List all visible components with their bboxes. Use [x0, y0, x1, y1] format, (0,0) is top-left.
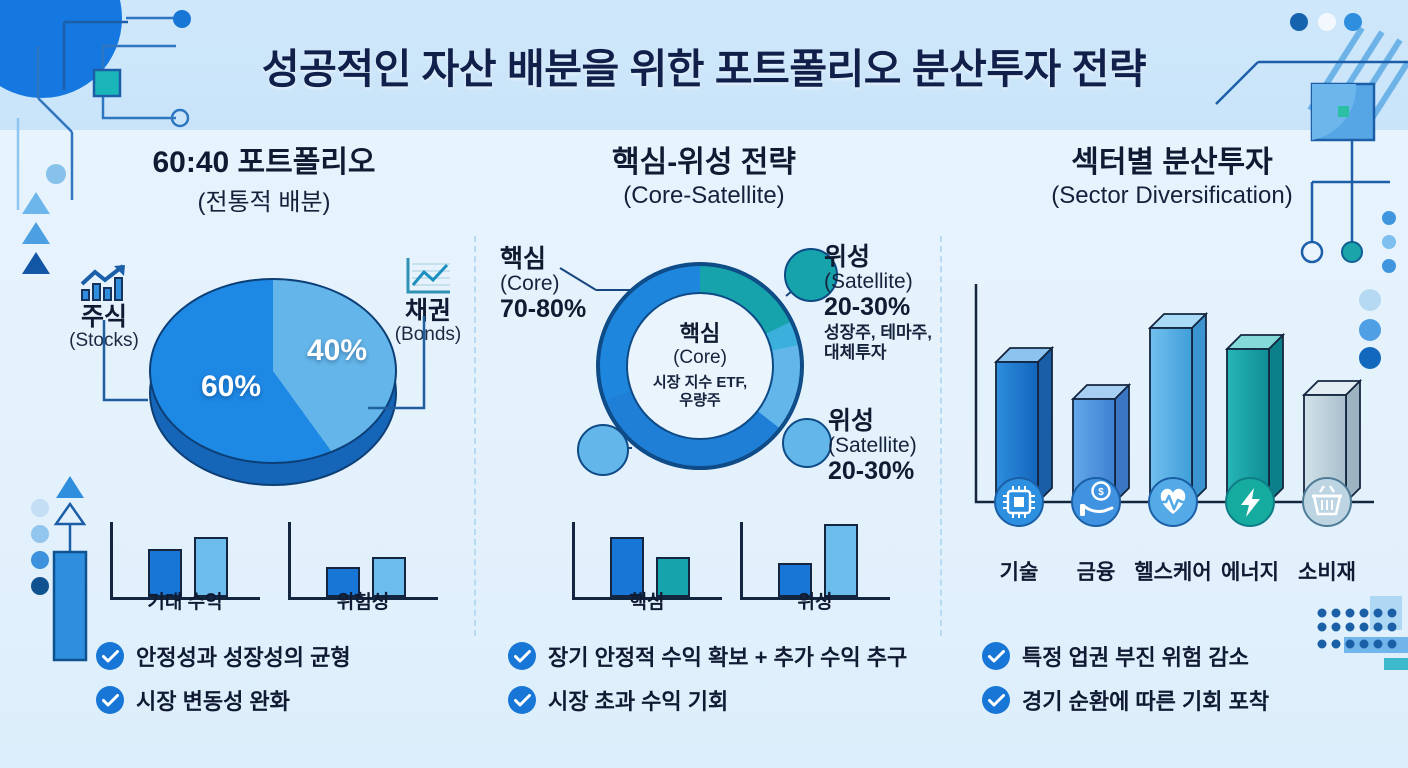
- annotation-core-pct: 70-80%: [500, 295, 610, 324]
- annotation-core: 핵심 (Core) 70-80%: [500, 246, 610, 324]
- check-circle-icon: [982, 642, 1010, 670]
- bullet-text: 안정성과 성장성의 균형: [136, 640, 351, 672]
- svg-text:$: $: [1098, 487, 1104, 498]
- legend-bonds-en: (Bonds): [372, 324, 484, 346]
- column-1-title: 60:40 포트폴리오: [44, 146, 484, 180]
- check-circle-icon: [96, 642, 124, 670]
- sector-label-consumer: 소비재: [1274, 556, 1380, 586]
- annotation-satellite-bottom-pct: 20-30%: [828, 457, 958, 486]
- legend-bonds: 채권 (Bonds): [372, 256, 484, 346]
- annotation-satellite-bottom: 위성 (Satellite) 20-30%: [828, 408, 958, 486]
- money-hand-icon: $: [1072, 478, 1120, 526]
- mini-chart-core: 핵심: [572, 505, 722, 600]
- bullet-list-column-1: 안정성과 성장성의 균형 시장 변동성 완화: [96, 640, 351, 728]
- column-3-title: 섹터별 분산투자: [952, 146, 1392, 180]
- bullet-item: 경기 순환에 따른 기회 포착: [982, 684, 1269, 716]
- check-circle-icon: [508, 642, 536, 670]
- pie-slice-label-bonds: 40%: [307, 334, 367, 368]
- donut-center-label: 핵심 (Core) 시장 지수 ETF, 우량주: [626, 292, 774, 440]
- annotation-satellite-top: 위성 (Satellite) 20-30% 성장주, 테마주, 대체투자: [824, 244, 954, 364]
- donut-center-line1: 핵심: [680, 322, 720, 346]
- mini-chart-caption: 핵심: [572, 587, 722, 614]
- bar-chart-up-icon: [42, 262, 166, 302]
- annotation-satellite-detail1: 성장주, 테마주,: [824, 323, 954, 343]
- annotation-satellite-top-en: (Satellite): [824, 270, 954, 293]
- chip-icon: [995, 478, 1043, 526]
- mini-chart-caption: 기대 수익: [110, 587, 260, 614]
- check-circle-icon: [982, 686, 1010, 714]
- donut-center-line2: (Core): [673, 347, 727, 369]
- mini-chart-expected-return: 기대 수익: [110, 505, 260, 600]
- bullet-text: 시장 초과 수익 기회: [548, 684, 728, 716]
- satellite-node-bottom: [782, 418, 832, 468]
- sector-bar-chart: $: [960, 264, 1380, 564]
- annotation-satellite-detail2: 대체투자: [824, 343, 954, 363]
- column-2-subtitle: (Core-Satellite): [484, 182, 924, 210]
- bullet-item: 장기 안정적 수익 확보 + 추가 수익 추구: [508, 640, 907, 672]
- annotation-satellite-top-pct: 20-30%: [824, 293, 954, 322]
- lightning-icon: [1226, 478, 1274, 526]
- annotation-satellite-top-ko: 위성: [824, 244, 954, 270]
- annotation-satellite-bottom-ko: 위성: [828, 408, 958, 434]
- annotation-core-en: (Core): [500, 272, 610, 295]
- mini-chart-risk: 위험성: [288, 505, 438, 600]
- heartbeat-icon: [1149, 478, 1197, 526]
- legend-stocks-label: 주식: [42, 304, 166, 330]
- bullet-text: 시장 변동성 완화: [136, 684, 290, 716]
- mini-chart-satellite: 위성: [740, 505, 890, 600]
- legend-stocks: 주식 (Stocks): [42, 262, 166, 352]
- column-core-satellite: 핵심-위성 전략 (Core-Satellite): [484, 146, 924, 210]
- column-1-subtitle: (전통적 배분): [44, 182, 484, 217]
- bullet-item: 특정 업권 부진 위험 감소: [982, 640, 1269, 672]
- mini-chart-caption: 위험성: [288, 587, 438, 614]
- donut-center-line4: 우량주: [679, 392, 720, 410]
- legend-stocks-en: (Stocks): [42, 330, 166, 352]
- check-circle-icon: [96, 686, 124, 714]
- column-sector-diversification: 섹터별 분산투자 (Sector Diversification): [952, 146, 1392, 210]
- bullet-item: 안정성과 성장성의 균형: [96, 640, 351, 672]
- column-portfolio-6040: 60:40 포트폴리오 (전통적 배분): [44, 146, 484, 217]
- bullet-item: 시장 초과 수익 기회: [508, 684, 907, 716]
- bullet-text: 특정 업권 부진 위험 감소: [1022, 640, 1249, 672]
- page-title: 성공적인 자산 배분을 위한 포트폴리오 분산투자 전략: [0, 0, 1408, 130]
- legend-bonds-label: 채권: [372, 298, 484, 324]
- sector-bar-healthcare: [1150, 314, 1206, 502]
- annotation-satellite-bottom-en: (Satellite): [828, 434, 958, 457]
- infographic-canvas: 성공적인 자산 배분을 위한 포트폴리오 분산투자 전략 60:40 포트폴리오…: [0, 0, 1408, 768]
- pie-top-face: [149, 278, 397, 464]
- bullet-text: 경기 순환에 따른 기회 포착: [1022, 684, 1269, 716]
- satellite-node-left: [577, 424, 629, 476]
- column-2-title: 핵심-위성 전략: [484, 146, 924, 180]
- mini-chart-caption: 위성: [740, 587, 890, 614]
- donut-center-line3: 시장 지수 ETF,: [653, 374, 747, 392]
- line-chart-icon: [372, 256, 484, 296]
- pie-slice-label-stocks: 60%: [201, 370, 261, 404]
- annotation-core-ko: 핵심: [500, 246, 610, 272]
- bullet-list-column-3: 특정 업권 부진 위험 감소 경기 순환에 따른 기회 포착: [982, 640, 1269, 728]
- basket-icon: [1303, 478, 1351, 526]
- bullet-text: 장기 안정적 수익 확보 + 추가 수익 추구: [548, 640, 907, 672]
- check-circle-icon: [508, 686, 536, 714]
- column-3-subtitle: (Sector Diversification): [952, 182, 1392, 210]
- donut-chart-core-satellite: 핵심 (Core) 시장 지수 ETF, 우량주: [596, 262, 804, 470]
- bullet-list-column-2: 장기 안정적 수익 확보 + 추가 수익 추구 시장 초과 수익 기회: [508, 640, 907, 728]
- sector-bar-energy: [1227, 335, 1283, 502]
- bullet-item: 시장 변동성 완화: [96, 684, 351, 716]
